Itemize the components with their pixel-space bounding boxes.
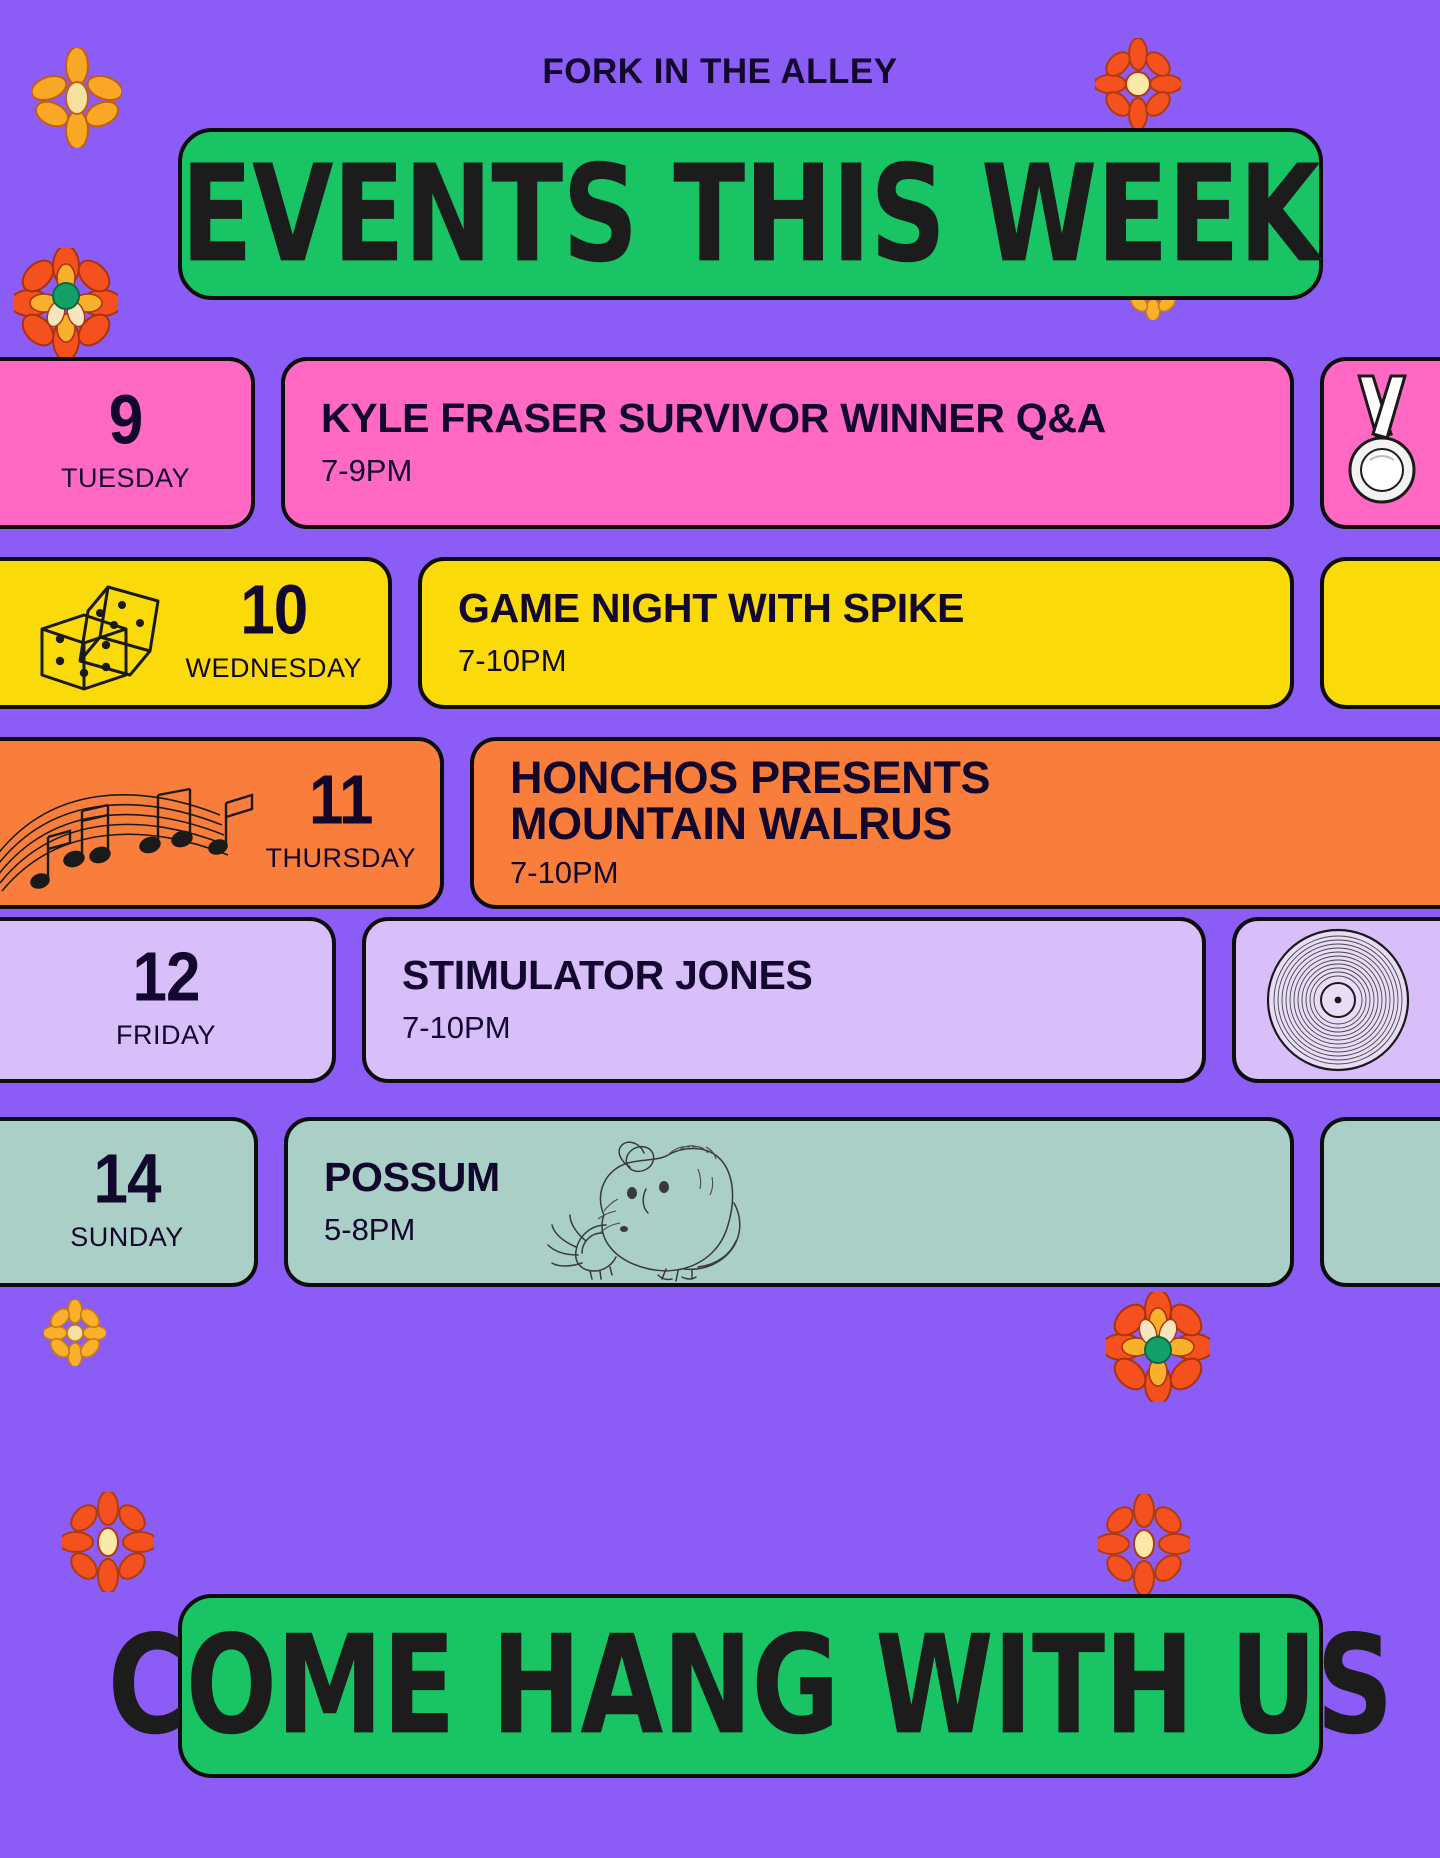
flower-layered-bottom-right	[1106, 1292, 1210, 1402]
event-row-sunday[interactable]: 14 SUNDAY POSSUM 5-8PM	[0, 1117, 1440, 1287]
event-time: 7-10PM	[510, 855, 1440, 891]
day-number: 12	[133, 946, 200, 1012]
event-card-stimulator-jones[interactable]: STIMULATOR JONES 7-10PM	[362, 917, 1206, 1083]
day-name: SUNDAY	[70, 1222, 184, 1253]
event-row-wednesday[interactable]: 10 WEDNESDAY GAME NIGHT WITH SPIKE 7-10P…	[0, 557, 1440, 709]
day-number: 10	[240, 579, 307, 645]
event-row-friday[interactable]: 12 FRIDAY STIMULATOR JONES 7-10PM	[0, 917, 1440, 1083]
possum-icon	[546, 1129, 782, 1285]
event-card-game-night[interactable]: GAME NIGHT WITH SPIKE 7-10PM	[418, 557, 1294, 709]
day-name: TUESDAY	[61, 463, 190, 494]
day-card-10: 10 WEDNESDAY	[0, 557, 392, 709]
endcap-tuesday	[1320, 357, 1440, 529]
footer-banner: COME HANG WITH US	[178, 1594, 1323, 1778]
dice-icon	[22, 577, 182, 697]
event-title: GAME NIGHT WITH SPIKE	[458, 587, 1290, 629]
event-poster: FORK IN THE ALLEY EVENTS THIS WEEK 9 TUE…	[0, 0, 1440, 1858]
event-title-line1: HONCHOS PRESENTS	[510, 755, 1440, 801]
day-name: FRIDAY	[116, 1020, 216, 1051]
event-row-thursday[interactable]: 11 THURSDAY HONCHOS PRESENTS MOUNTAIN WA…	[0, 737, 1440, 909]
brand-name: FORK IN THE ALLEY	[0, 52, 1440, 92]
headline-banner: EVENTS THIS WEEK	[178, 128, 1323, 300]
event-row-tuesday[interactable]: 9 TUESDAY KYLE FRASER SURVIVOR WINNER Q&…	[0, 357, 1440, 529]
event-title: POSSUM	[324, 1156, 1290, 1198]
endcap-friday	[1232, 917, 1440, 1083]
headline-text: EVENTS THIS WEEK	[181, 147, 1320, 281]
event-title: STIMULATOR JONES	[402, 954, 1202, 996]
event-time: 7-10PM	[402, 1010, 1202, 1046]
event-title-line2: MOUNTAIN WALRUS	[510, 801, 1440, 847]
day-card-12: 12 FRIDAY	[0, 917, 336, 1083]
day-number: 9	[109, 389, 142, 455]
event-card-honchos[interactable]: HONCHOS PRESENTS MOUNTAIN WALRUS 7-10PM	[470, 737, 1440, 909]
endcap-wednesday	[1320, 557, 1440, 709]
flower-small-yellow-bottom-left	[44, 1300, 106, 1366]
event-card-kyle-fraser[interactable]: KYLE FRASER SURVIVOR WINNER Q&A 7-9PM	[281, 357, 1294, 529]
event-time: 5-8PM	[324, 1212, 1290, 1248]
flower-orange-bottom-left	[62, 1492, 154, 1592]
footer-text: COME HANG WITH US	[108, 1618, 1393, 1755]
event-time: 7-10PM	[458, 643, 1290, 679]
music-notes-icon	[0, 763, 290, 893]
day-number: 14	[94, 1148, 161, 1214]
event-time: 7-9PM	[321, 453, 1290, 489]
vinyl-record-icon	[1262, 924, 1414, 1076]
day-number: 11	[309, 769, 373, 835]
day-card-11: 11 THURSDAY	[0, 737, 444, 909]
flower-orange-bottom-right	[1098, 1494, 1190, 1594]
event-card-possum[interactable]: POSSUM 5-8PM	[284, 1117, 1294, 1287]
medal-icon	[1339, 372, 1425, 514]
event-title: KYLE FRASER SURVIVOR WINNER Q&A	[321, 397, 1290, 439]
flower-layered-left	[14, 248, 118, 358]
day-card-14: 14 SUNDAY	[0, 1117, 258, 1287]
day-name: WEDNESDAY	[185, 653, 362, 684]
endcap-sunday	[1320, 1117, 1440, 1287]
day-card-9: 9 TUESDAY	[0, 357, 255, 529]
